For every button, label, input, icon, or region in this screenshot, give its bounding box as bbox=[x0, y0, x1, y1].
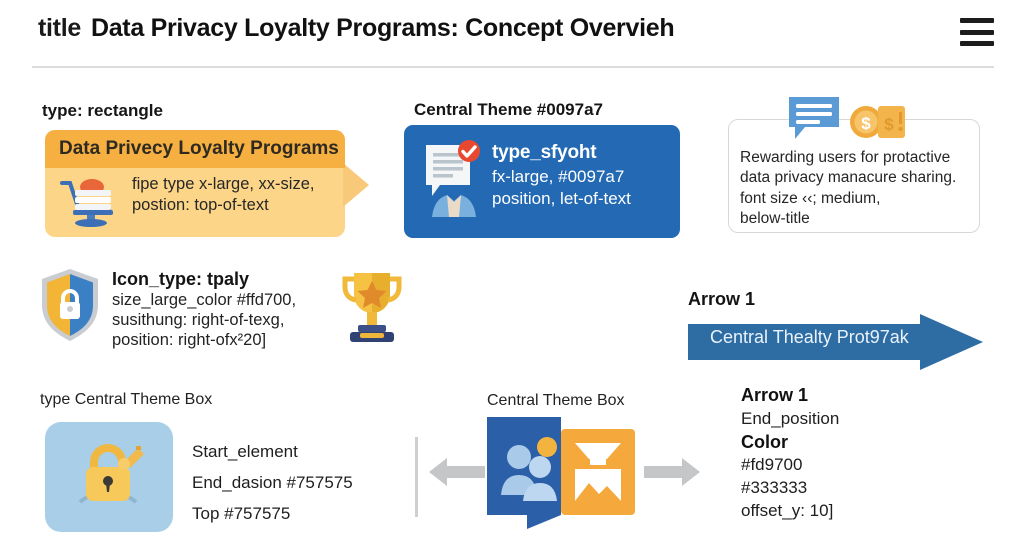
bottom-center-caption: Central Theme Box bbox=[487, 392, 625, 410]
speech-bubble-icon bbox=[787, 95, 841, 141]
title-keyword: title bbox=[38, 14, 81, 43]
callout-body-line-2: postion: top-of-text bbox=[132, 195, 314, 216]
central-theme-caption: Central Theme #0097a7 bbox=[414, 100, 603, 120]
page-title: title Data Privacy Loyalty Programs: Con… bbox=[38, 14, 674, 43]
bottom-right-line-2: End_position bbox=[741, 408, 839, 431]
padlock-key-icon bbox=[72, 440, 148, 514]
bottom-left-line-1: Start_element bbox=[192, 437, 353, 468]
callout-tail bbox=[343, 163, 369, 207]
dollar-coins-icon: $ $ bbox=[849, 100, 907, 144]
shield-lock-icon bbox=[38, 267, 102, 343]
callout-body-text: fipe type x-large, xx-size, postion: top… bbox=[132, 174, 314, 216]
reward-card-text: Rewarding users for protactive data priv… bbox=[740, 148, 956, 230]
document-check-person-icon bbox=[422, 139, 486, 217]
central-theme-line-3: position, let-of-text bbox=[492, 189, 631, 209]
shield-text-block: Icon_type: tpaly size_large_color #ffd70… bbox=[112, 269, 296, 350]
shield-line-3: position: right-ofx²20] bbox=[112, 330, 296, 350]
bottom-left-line-3: Top #757575 bbox=[192, 499, 353, 530]
bottom-right-text: Arrow 1 End_position Color #fd9700 #3333… bbox=[741, 384, 839, 522]
arrow-right-icon bbox=[644, 455, 700, 489]
bottom-right-line-6: offset_y: 10] bbox=[741, 500, 839, 523]
arrow-1-label: Central Thealty Prot97ak bbox=[710, 327, 909, 348]
callout-header-label: Data Privecy Loyalty Programs bbox=[59, 138, 339, 160]
bottom-left-line-2: End_dasion #757575 bbox=[192, 468, 353, 499]
people-image-split-icon[interactable] bbox=[487, 417, 635, 529]
shopping-cart-icon bbox=[59, 176, 121, 228]
central-theme-line-1: type_sfyoht bbox=[492, 142, 631, 164]
rectangle-caption: type: rectangle bbox=[42, 101, 163, 121]
bottom-right-line-3: Color bbox=[741, 431, 839, 455]
vertical-divider bbox=[415, 437, 418, 517]
central-theme-line-2: fx-large, #0097a7 bbox=[492, 167, 631, 187]
hamburger-menu-icon[interactable] bbox=[960, 18, 994, 46]
header-divider bbox=[32, 66, 994, 68]
arrow-left-icon bbox=[429, 455, 485, 489]
central-theme-text: type_sfyoht fx-large, #0097a7 position, … bbox=[492, 142, 631, 209]
shield-line-1: size_large_color #ffd700, bbox=[112, 290, 296, 310]
arrow-1-caption: Arrow 1 bbox=[688, 289, 755, 310]
orange-callout-shape[interactable]: Data Privecy Loyalty Programs fipe type … bbox=[45, 130, 345, 237]
slide-canvas: title Data Privacy Loyalty Programs: Con… bbox=[0, 0, 1024, 559]
bottom-right-line-1: Arrow 1 bbox=[741, 384, 839, 408]
bottom-right-line-4: #fd9700 bbox=[741, 454, 839, 477]
callout-header-band: Data Privecy Loyalty Programs bbox=[45, 130, 345, 168]
central-theme-box[interactable]: type_sfyoht fx-large, #0097a7 position, … bbox=[404, 125, 680, 238]
hamburger-bar-1 bbox=[960, 18, 994, 23]
icon-type-heading: Icon_type: tpaly bbox=[112, 269, 296, 290]
bottom-left-caption: type Central Theme Box bbox=[40, 391, 212, 409]
title-text: Data Privacy Loyalty Programs: Concept O… bbox=[91, 14, 674, 43]
reward-line-1: Rewarding users for protactive bbox=[740, 148, 956, 168]
reward-line-4: below-title bbox=[740, 209, 956, 229]
hamburger-bar-3 bbox=[960, 41, 994, 46]
bottom-right-line-5: #333333 bbox=[741, 477, 839, 500]
shield-line-2: susithung: right-of-texg, bbox=[112, 310, 296, 330]
callout-body-line-1: fipe type x-large, xx-size, bbox=[132, 174, 314, 195]
svg-text:$: $ bbox=[861, 114, 871, 133]
reward-line-2: data privacy manacure sharing. bbox=[740, 168, 956, 188]
reward-line-3: font size ‹‹; medium, bbox=[740, 189, 956, 209]
trophy-icon bbox=[336, 267, 408, 347]
page-header: title Data Privacy Loyalty Programs: Con… bbox=[0, 0, 1024, 68]
bottom-left-text: Start_element End_dasion #757575 Top #75… bbox=[192, 437, 353, 530]
svg-text:$: $ bbox=[884, 115, 894, 134]
hamburger-bar-2 bbox=[960, 30, 994, 35]
